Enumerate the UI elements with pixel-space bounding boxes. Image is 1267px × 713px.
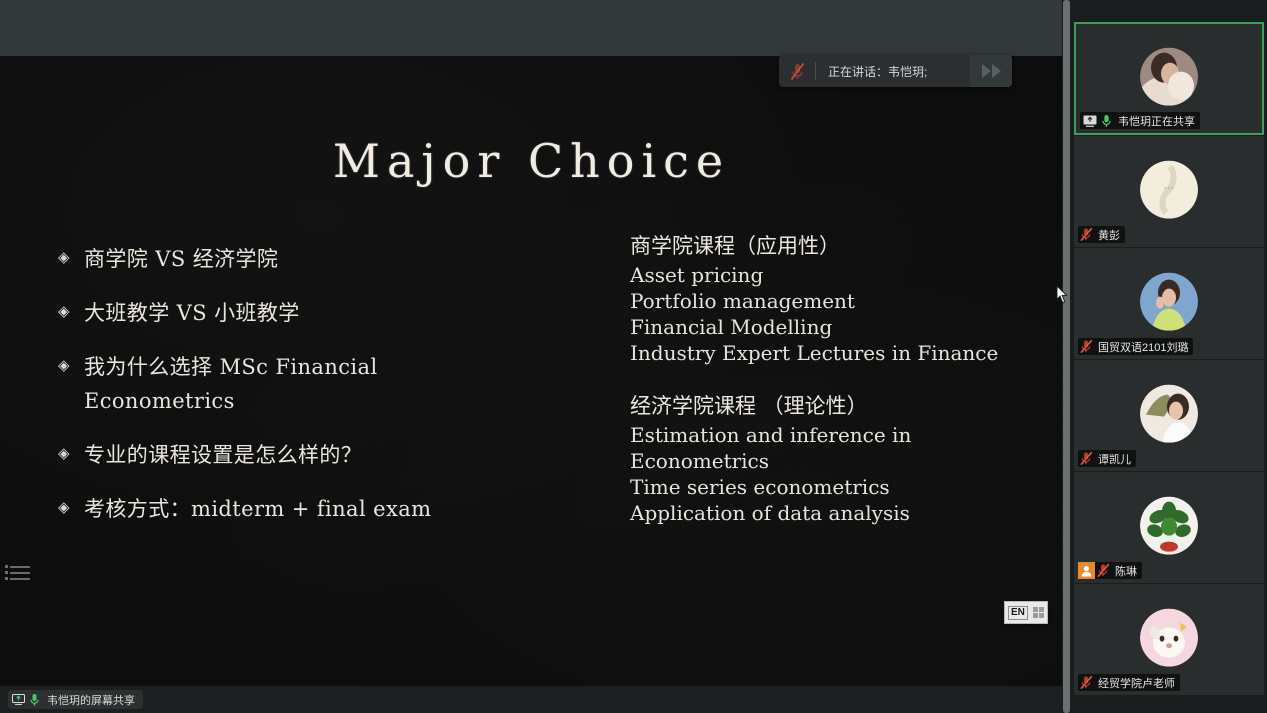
course-group-economics: 经济学院课程 （理论性） Estimation and inference in… (630, 392, 1050, 526)
participant-name: 陈琳 (1112, 563, 1137, 579)
group-line: Time series econometrics (630, 474, 1050, 500)
list-item: ◈ 专业的课程设置是怎么样的？ (58, 438, 478, 472)
list-bullets-icon[interactable] (10, 566, 30, 584)
mic-muted-icon (1095, 562, 1112, 579)
participant-name: 谭凯儿 (1095, 451, 1131, 467)
mic-on-icon (26, 691, 43, 708)
avatar (1140, 496, 1198, 554)
double-chevron-right-icon[interactable] (970, 55, 1012, 87)
course-group-business: 商学院课程（应用性） Asset pricing Portfolio manag… (630, 232, 1050, 366)
participants-scrollbar-thumb[interactable] (1063, 0, 1070, 713)
list-item: ◈ 大班教学 VS 小班教学 (58, 296, 478, 330)
diamond-bullet-icon: ◈ (58, 492, 84, 522)
diamond-bullet-icon: ◈ (58, 296, 84, 326)
list-item: ◈ 考核方式：midterm + final exam (58, 492, 478, 526)
participant-strip[interactable]: 韦恺玥正在共享 ••• (1071, 0, 1267, 713)
bullet-text: 专业的课程设置是怎么样的？ (84, 438, 362, 472)
ime-keyboard-grid-icon[interactable] (1033, 607, 1044, 618)
participant-name-chip: 谭凯儿 (1078, 450, 1136, 467)
group-line: Econometrics (630, 448, 1050, 474)
mic-muted-icon (1078, 674, 1095, 691)
speaking-label: 正在讲话：韦恺玥; (816, 63, 970, 80)
participant-name-chip: 陈琳 (1078, 562, 1142, 579)
mic-muted-icon (1078, 450, 1095, 467)
group-line: Financial Modelling (630, 314, 1050, 340)
svg-text:•••: ••• (1164, 185, 1175, 192)
participant-name-chip: 韦恺玥正在共享 (1080, 112, 1200, 129)
participant-tile[interactable]: 经贸学院卢老师 (1074, 584, 1264, 695)
group-line: Asset pricing (630, 262, 1050, 288)
avatar (1140, 47, 1198, 105)
share-status-label: 韦恺玥的屏幕共享 (43, 692, 135, 708)
screen-share-icon (1082, 112, 1098, 129)
group-line: Application of data analysis (630, 500, 1050, 526)
slide-bullet-list: ◈ 商学院 VS 经济学院 ◈ 大班教学 VS 小班教学 ◈ 我为什么选择 MS… (58, 242, 478, 546)
share-status-chip[interactable]: 韦恺玥的屏幕共享 (8, 690, 143, 709)
participant-name: 国贸双语2101刘璐 (1095, 339, 1188, 355)
group-heading: 经济学院课程 （理论性） (630, 392, 1050, 420)
mic-muted-icon (1078, 226, 1095, 243)
list-item: ◈ 我为什么选择 MSc Financial Econometrics (58, 350, 478, 418)
participant-name: 韦恺玥正在共享 (1115, 113, 1195, 129)
participant-name-chip: 黄彭 (1078, 226, 1125, 243)
participant-tile[interactable]: 国贸双语2101刘璐 (1074, 248, 1264, 359)
bullet-text: 商学院 VS 经济学院 (84, 242, 278, 276)
participant-tile[interactable]: 谭凯儿 (1074, 360, 1264, 471)
participant-name-chip: 国贸双语2101刘璐 (1078, 338, 1193, 355)
participant-tile[interactable]: 陈琳 (1074, 472, 1264, 583)
group-line: Portfolio management (630, 288, 1050, 314)
slide-title: Major Choice (0, 134, 1063, 188)
slide-course-columns: 商学院课程（应用性） Asset pricing Portfolio manag… (630, 232, 1050, 552)
diamond-bullet-icon: ◈ (58, 242, 84, 272)
share-top-chrome (0, 0, 1070, 56)
share-bottom-bar: 韦恺玥的屏幕共享 (0, 686, 1063, 713)
screen-share-icon (10, 691, 26, 708)
host-person-icon (1078, 562, 1095, 579)
participant-tile[interactable]: ••• 黄彭 (1074, 136, 1264, 247)
mic-muted-icon (1078, 338, 1095, 355)
bullet-text: 大班教学 VS 小班教学 (84, 296, 300, 330)
avatar (1140, 384, 1198, 442)
diamond-bullet-icon: ◈ (58, 438, 84, 468)
participant-tile[interactable]: 韦恺玥正在共享 (1074, 22, 1264, 135)
list-item: ◈ 商学院 VS 经济学院 (58, 242, 478, 276)
diamond-bullet-icon: ◈ (58, 350, 84, 380)
ime-language-indicator[interactable]: EN (1004, 601, 1048, 624)
bullet-text: 我为什么选择 MSc Financial Econometrics (84, 350, 478, 418)
ime-language-label: EN (1008, 606, 1028, 620)
group-line: Industry Expert Lectures in Finance (630, 340, 1050, 366)
avatar (1140, 608, 1198, 666)
participant-name: 经贸学院卢老师 (1095, 675, 1175, 691)
mic-muted-icon (779, 55, 815, 87)
participant-name: 黄彭 (1095, 227, 1120, 243)
group-heading: 商学院课程（应用性） (630, 232, 1050, 260)
avatar (1140, 272, 1198, 330)
avatar: ••• (1140, 160, 1198, 218)
bullet-text: 考核方式：midterm + final exam (84, 492, 431, 526)
participant-name-chip: 经贸学院卢老师 (1078, 674, 1180, 691)
group-line: Estimation and inference in (630, 422, 1050, 448)
zoom-meeting-window: Major Choice ◈ 商学院 VS 经济学院 ◈ 大班教学 VS 小班教… (0, 0, 1267, 713)
speaking-toast[interactable]: 正在讲话：韦恺玥; (779, 55, 1012, 87)
shared-screen-slide[interactable]: Major Choice ◈ 商学院 VS 经济学院 ◈ 大班教学 VS 小班教… (0, 56, 1063, 686)
mic-on-icon (1098, 112, 1115, 129)
